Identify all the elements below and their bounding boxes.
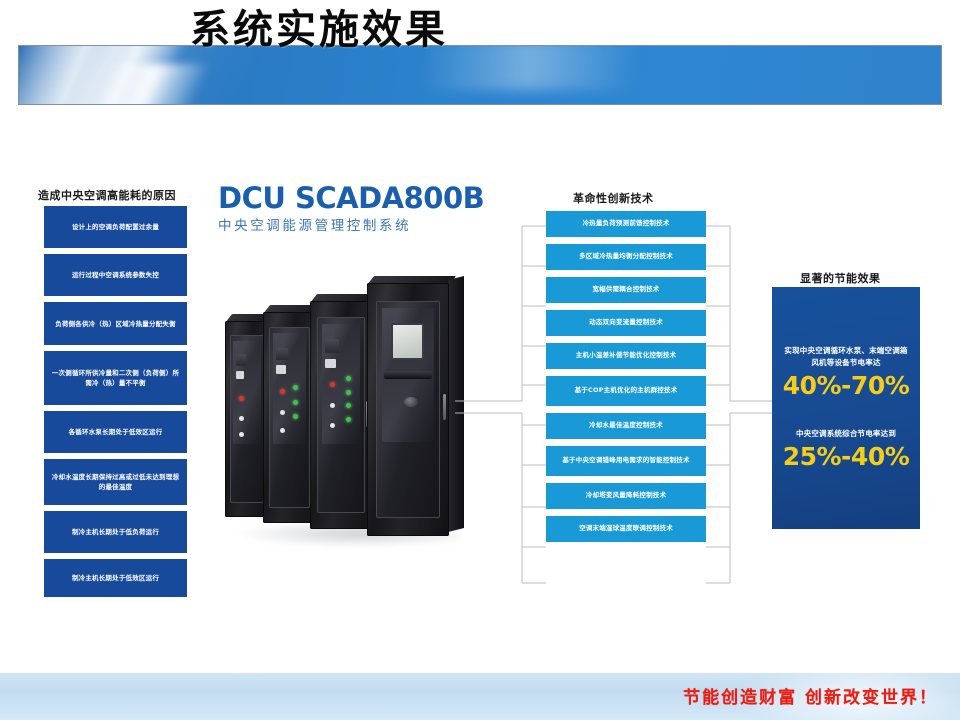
- product-subtitle: 中央空调能源管理控制系统: [218, 216, 484, 236]
- footer-slogan: 节能创造财富 创新改变世界！: [683, 683, 938, 708]
- cabinet-led-white: [239, 432, 244, 437]
- control-cabinet-image: [225, 255, 465, 555]
- technologies-list: 冷热量负荷预测前馈控制技术 多区域冷热量均衡分配控制技术 宽幅供需耦合控制技术 …: [546, 211, 706, 549]
- cabinet-meter: [236, 371, 244, 379]
- cause-item[interactable]: 一次侧循环所供冷量和二次侧（负荷侧）所需冷（热）量不平衡: [44, 351, 187, 405]
- tech-item[interactable]: 多区域冷热量均衡分配控制技术: [546, 244, 706, 270]
- cause-item[interactable]: 运行过程中空调系统参数失控: [44, 254, 187, 296]
- cabinet-led-green: [346, 376, 351, 381]
- cause-item[interactable]: 制冷主机长期处于低效区运行: [44, 559, 187, 597]
- cabinet-led-red: [280, 389, 285, 394]
- cause-item[interactable]: 冷却水温度长期保持过高或过低未达到理想的最佳温度: [44, 459, 187, 505]
- cabinet-panel: [325, 339, 339, 353]
- cabinet-led-green: [293, 414, 298, 419]
- technologies-heading: 革命性创新技术: [573, 190, 654, 206]
- effect-item: 中央空调系统综合节电率达到 25%-40%: [782, 428, 910, 472]
- cause-item[interactable]: 负荷侧各供冷（热）区域冷热量分配失衡: [44, 302, 187, 345]
- cabinet-led-green: [346, 390, 351, 395]
- tech-item[interactable]: 空调末端湿球温度联调控制技术: [546, 516, 706, 542]
- cabinet-panel: [276, 348, 288, 361]
- cabinet-led-red: [330, 382, 335, 387]
- cabinet-led-green: [346, 417, 351, 422]
- effect-item: 实现中央空调循环水泵、末端空调箱风机等设备节电率达 40%-70%: [782, 345, 910, 401]
- effects-heading: 显著的节能效果: [800, 270, 881, 286]
- cause-item[interactable]: 设计上的空调负荷配置过余量: [44, 206, 187, 248]
- cabinet-led-red: [239, 396, 244, 401]
- cause-item[interactable]: 制冷主机长期处于低负荷运行: [44, 511, 187, 553]
- cabinet-vent-slot: [384, 371, 431, 380]
- cabinet-door: [317, 317, 365, 513]
- tech-item[interactable]: 基于中央空调错峰用电需求的智能控制技术: [546, 446, 706, 476]
- effect-description: 实现中央空调循环水泵、末端空调箱风机等设备节电率达: [782, 345, 910, 369]
- cabinet-lcd-screen[interactable]: [391, 323, 425, 359]
- tech-item[interactable]: 冷热量负荷预测前馈控制技术: [546, 211, 706, 237]
- cabinet-led-white: [239, 416, 244, 421]
- title-banner: [18, 45, 942, 105]
- cabinet-handle: [443, 394, 446, 420]
- tech-item[interactable]: 基于COP主机优化的主机群控技术: [546, 376, 706, 406]
- cabinet-meter: [276, 365, 285, 374]
- causes-list: 设计上的空调负荷配置过余量 运行过程中空调系统参数失控 负荷侧各供冷（热）区域冷…: [44, 206, 187, 603]
- effect-value: 25%-40%: [782, 442, 910, 472]
- cabinet-panel: [236, 354, 246, 366]
- cabinet-led-green: [293, 400, 298, 405]
- cabinet-door: [269, 327, 310, 508]
- tech-item[interactable]: 主机小温差补偿节能优化控制技术: [546, 343, 706, 369]
- cabinet-knob[interactable]: [404, 397, 418, 407]
- tech-item[interactable]: 冷却塔变风量降耗控制技术: [546, 483, 706, 509]
- cabinet-2: [263, 312, 316, 523]
- causes-heading: 造成中央空调高能耗的原因: [38, 187, 176, 203]
- cabinet-led-green: [293, 385, 298, 390]
- tech-item[interactable]: 冷却水最佳温度控制技术: [546, 413, 706, 439]
- cabinet-4-with-display: [367, 283, 449, 536]
- cabinet-meter: [325, 359, 336, 369]
- cabinet-3: [310, 301, 372, 529]
- banner-cloud-streak-2: [18, 64, 299, 105]
- product-name: DCU SCADA800B: [218, 182, 484, 214]
- cabinet-led-white: [330, 423, 335, 428]
- page-title: 系统实施效果: [190, 2, 448, 58]
- slide-canvas: 系统实施效果 造成中央空调高能耗的原因 设计上的空调负荷配置过余量 运行过程中空…: [0, 0, 960, 720]
- product-title-group: DCU SCADA800B 中央空调能源管理控制系统: [218, 182, 484, 236]
- cabinet-side-panel: [448, 276, 464, 532]
- tech-item[interactable]: 宽幅供需耦合控制技术: [546, 277, 706, 303]
- effect-value: 40%-70%: [782, 371, 910, 401]
- cabinet-door: [376, 301, 440, 519]
- effect-description: 中央空调系统综合节电率达到: [782, 428, 910, 440]
- effects-panel: 实现中央空调循环水泵、末端空调箱风机等设备节电率达 40%-70% 中央空调系统…: [772, 287, 920, 529]
- cabinet-door: [230, 335, 264, 504]
- cause-item[interactable]: 各循环水泵长期处于低效区运行: [44, 411, 187, 453]
- tech-item[interactable]: 动态双向变流量控制技术: [546, 310, 706, 336]
